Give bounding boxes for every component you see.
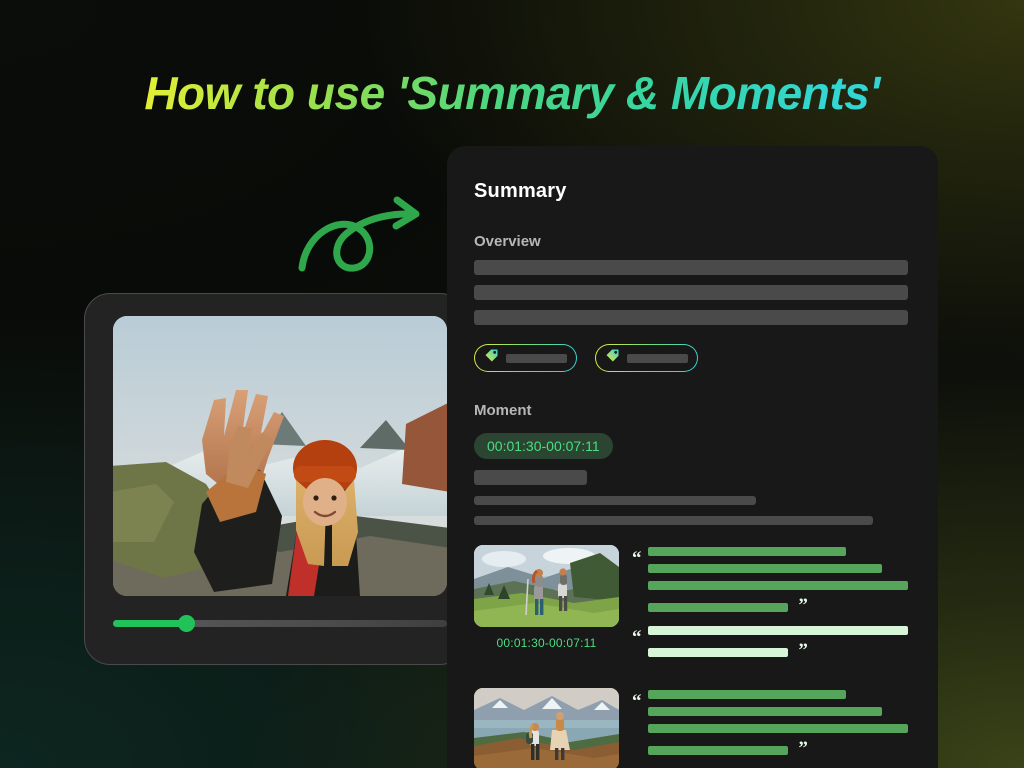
tag-icon xyxy=(605,348,620,368)
page-background: How to use 'Summary & Moments' xyxy=(0,0,1024,768)
moment-card[interactable]: 00:01:30-00:07:11 “ ” “ xyxy=(474,545,908,662)
quote-close-mark: ” xyxy=(798,641,808,660)
quote-line xyxy=(648,648,788,657)
tag-chip-list xyxy=(474,344,908,372)
progress-handle[interactable] xyxy=(178,615,195,632)
quote-line xyxy=(648,724,908,733)
tag-label-placeholder xyxy=(506,354,567,363)
quote-close-mark: ” xyxy=(798,596,808,615)
tag-icon xyxy=(484,348,499,368)
quote-line xyxy=(648,707,882,716)
quote-open-mark: “ xyxy=(632,628,642,647)
progress-fill xyxy=(113,620,186,627)
tag-chip[interactable] xyxy=(474,344,577,372)
quote-block-mint: “ ” xyxy=(632,626,908,662)
skeleton-bar xyxy=(474,260,908,275)
skeleton-bar xyxy=(474,285,908,300)
quote-block-green: “ ” xyxy=(632,547,908,617)
moment-thumbnail[interactable] xyxy=(474,688,619,768)
quote-line xyxy=(648,547,846,556)
quote-open-mark: “ xyxy=(632,549,642,568)
moment-card[interactable]: “ ” xyxy=(474,688,908,768)
quote-line xyxy=(648,564,882,573)
overview-label: Overview xyxy=(474,233,908,250)
quote-line xyxy=(648,746,788,755)
tag-chip[interactable] xyxy=(595,344,698,372)
quote-close-mark: ” xyxy=(798,739,808,758)
overview-skeleton xyxy=(474,260,908,325)
video-progress-bar[interactable] xyxy=(113,618,447,628)
tag-label-placeholder xyxy=(627,354,688,363)
page-title: How to use 'Summary & Moments' xyxy=(0,66,1024,120)
moment-quote-list: “ ” xyxy=(632,688,908,768)
moment-thumbnail[interactable] xyxy=(474,545,619,627)
quote-line xyxy=(648,603,788,612)
quote-block-green: “ ” xyxy=(632,690,908,760)
video-screen[interactable] xyxy=(113,316,447,596)
summary-panel: Summary Overview xyxy=(447,146,938,768)
moment-quote-list: “ ” “ ” xyxy=(632,545,908,662)
moment-thumbnail-caption: 00:01:30-00:07:11 xyxy=(474,636,619,650)
quote-open-mark: “ xyxy=(632,692,642,711)
skeleton-bar xyxy=(474,516,873,525)
skeleton-bar xyxy=(474,470,587,485)
moment-timestamp-badge[interactable]: 00:01:30-00:07:11 xyxy=(474,433,613,459)
moment-description-skeleton xyxy=(474,470,908,525)
panel-title: Summary xyxy=(474,180,908,203)
quote-line xyxy=(648,581,908,590)
quote-line xyxy=(648,626,908,635)
skeleton-bar xyxy=(474,496,756,505)
skeleton-bar xyxy=(474,310,908,325)
curly-arrow-icon xyxy=(296,192,426,274)
moment-label: Moment xyxy=(474,402,908,419)
video-player-device xyxy=(84,293,466,665)
quote-line xyxy=(648,690,846,699)
